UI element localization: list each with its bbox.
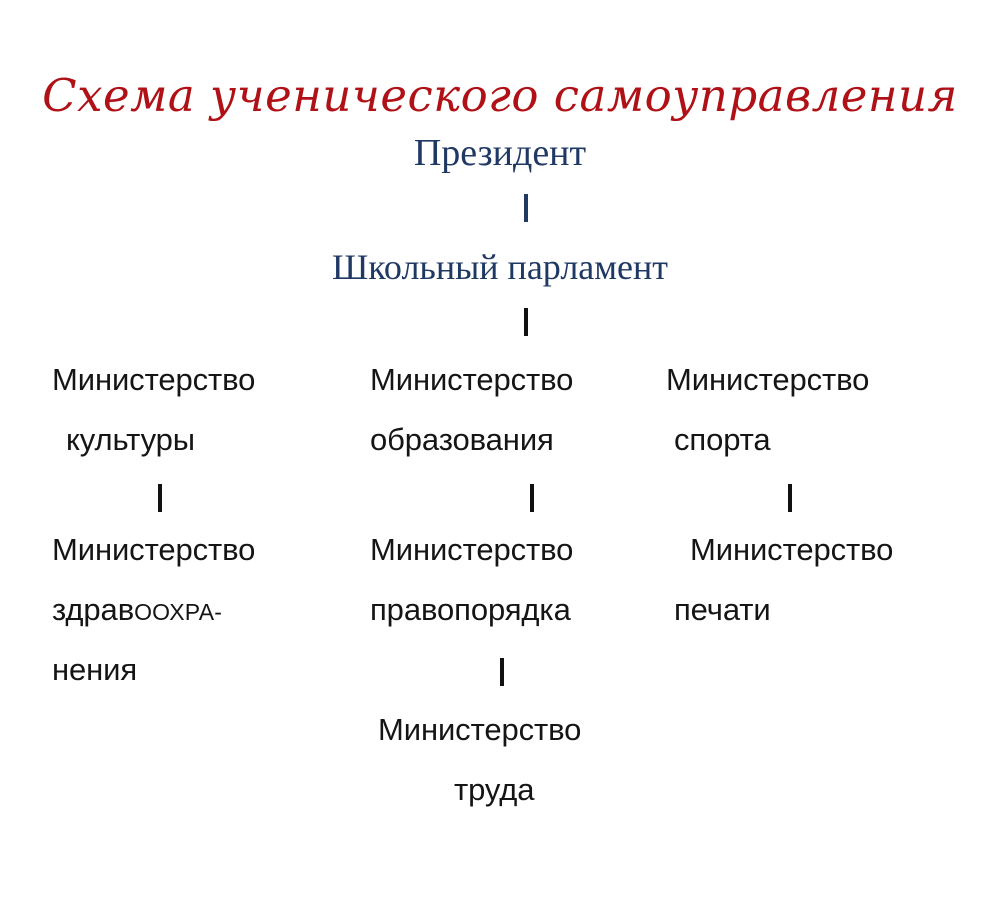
ministry-press-line2: печати [674,592,771,628]
node-president: Президент [0,130,1000,176]
ministry-law-order-line1: Министерство [370,532,573,568]
connector-education-to-law-order [530,484,534,512]
ministry-health-line2-smallcaps: ООХРА- [134,599,222,625]
ministry-culture-line1: Министерство [52,362,255,398]
ministry-culture-line2: культуры [66,422,195,458]
connector-law-order-to-labour [500,658,504,686]
ministry-health-line2-normal: здрав [52,592,134,627]
ministry-labour-line1: Министерство [378,712,581,748]
ministry-education-line1: Министерство [370,362,573,398]
connector-sport-to-press [788,484,792,512]
ministry-law-order-line2: правопорядка [370,592,571,628]
node-school-parliament: Школьный парламент [0,245,1000,289]
ministry-education-line2: образования [370,422,554,458]
ministry-sport-line1: Министерство [666,362,869,398]
ministry-sport-line2: спорта [674,422,771,458]
ministry-press-line1: Министерство [690,532,893,568]
ministry-health-line1: Министерство [52,532,255,568]
ministry-labour-line2: труда [454,772,534,808]
connector-president-to-parliament [524,194,528,222]
diagram-canvas: Схема ученического самоуправления Презид… [0,0,1000,908]
connector-culture-to-health [158,484,162,512]
ministry-health-line2: здравООХРА- [52,592,222,630]
page-title: Схема ученического самоуправления [0,70,1000,122]
ministry-health-line3: нения [52,652,137,688]
connector-parliament-to-ministries [524,308,528,336]
